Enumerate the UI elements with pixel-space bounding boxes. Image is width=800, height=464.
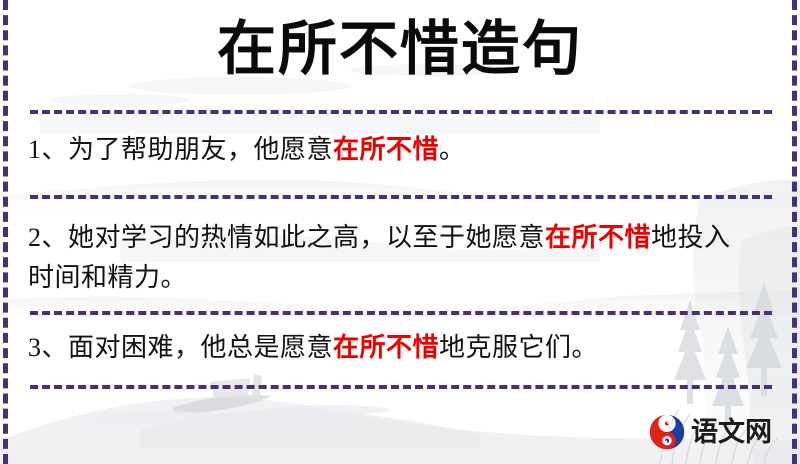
sentence-text: 地克服它们。: [439, 333, 598, 362]
page-title: 在所不惜造句: [0, 16, 800, 82]
idiom-highlight: 在所不惜: [333, 135, 439, 164]
yinyang-logo-icon: [649, 414, 685, 450]
sentence-line: 时间和精力。: [28, 258, 770, 298]
divider-rule-1: [30, 110, 772, 114]
sentence-line: 3、面对困难，他总是愿意在所不惜地克服它们。: [28, 328, 770, 368]
site-logo[interactable]: 语文网: [649, 414, 772, 450]
divider-rule-3: [30, 311, 772, 315]
divider-rule-2: [30, 195, 772, 199]
left-dashed-border: [3, 0, 8, 464]
example-sentence-1: 1、为了帮助朋友，他愿意在所不惜。: [28, 130, 770, 170]
idiom-highlight: 在所不惜: [545, 223, 651, 252]
sentence-line: 2、她对学习的热情如此之高，以至于她愿意在所不惜地投入: [28, 218, 770, 258]
example-sentence-3: 3、面对困难，他总是愿意在所不惜地克服它们。: [28, 328, 770, 368]
slide-canvas: 在所不惜造句 1、为了帮助朋友，他愿意在所不惜。 2、她对学习的热情如此之高，以…: [0, 0, 800, 464]
idiom-highlight: 在所不惜: [333, 333, 439, 362]
sentence-text: 1、为了帮助朋友，他愿意: [28, 135, 333, 164]
logo-wordmark: 语文网: [691, 419, 772, 446]
sentence-text: 3、面对困难，他总是愿意: [28, 333, 333, 362]
sentence-line: 1、为了帮助朋友，他愿意在所不惜。: [28, 130, 770, 170]
right-dashed-border: [792, 0, 797, 464]
sentence-text: 时间和精力。: [28, 263, 187, 292]
divider-rule-4: [30, 385, 772, 389]
sentence-text: 地投入: [651, 223, 731, 252]
example-sentence-2: 2、她对学习的热情如此之高，以至于她愿意在所不惜地投入 时间和精力。: [28, 218, 770, 298]
sentence-text: 2、她对学习的热情如此之高，以至于她愿意: [28, 223, 545, 252]
sentence-text: 。: [439, 135, 466, 164]
